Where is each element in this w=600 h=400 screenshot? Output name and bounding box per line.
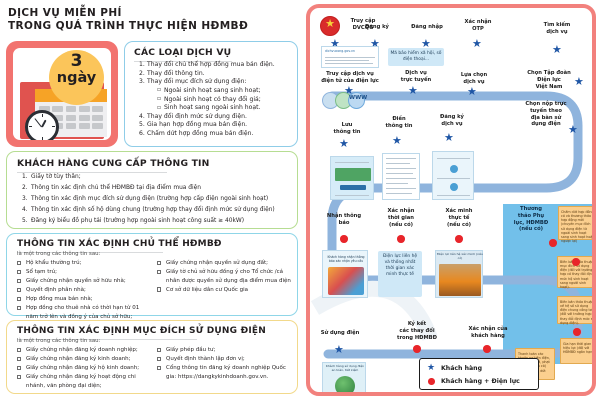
flow-label-s16: Xác minh thực tế (nếu có) — [435, 208, 483, 228]
legend-star-icon: ★ — [427, 363, 435, 373]
checkbox-item[interactable]: Giấy chứng nhận đăng ký hoạt động chi nh… — [17, 373, 151, 390]
checkbox-icon[interactable] — [17, 279, 21, 283]
customer-info-heading: KHÁCH HÀNG CUNG CẤP THÔNG TIN — [17, 158, 210, 169]
days-unit: ngày — [45, 70, 108, 86]
callout-dangky: Mã bảo hiểm xã hội, số điện thoại... — [388, 48, 444, 66]
dvcqg-url: dichvucong.gov.vn — [322, 47, 378, 53]
checkbox-item[interactable]: Quyết định phân nhà; — [17, 286, 151, 295]
flow-marker-star: ★ — [568, 124, 578, 135]
subject-info-subheading: là một trong các thông tin sau: — [17, 251, 100, 257]
list-item: 2.Thông tin xác định chủ thể HĐMBĐ tại đ… — [22, 183, 289, 194]
page-title: DỊCH VỤ MIỄN PHÍ TRONG QUÁ TRÌNH THỰC HI… — [8, 7, 278, 33]
title-line-2: TRONG QUÁ TRÌNH THỰC HIỆN HĐMBĐ — [8, 20, 278, 33]
flow-marker-star: ★ — [472, 38, 482, 49]
flow-label-s2: Đăng ký — [357, 24, 397, 31]
services-list: 1.Thay đổi chủ thể hợp đồng mua bán điện… — [139, 61, 292, 139]
legend-label-customer-utility: Khách hàng + Điện lực — [441, 378, 520, 385]
checkbox-icon[interactable] — [157, 348, 161, 352]
flow-marker-star: ★ — [552, 44, 562, 55]
nhan-thongbao-screenshot: Khách hàng nhận thông báo xác nhận yêu c… — [322, 250, 368, 298]
flow-marker-star: ★ — [444, 132, 454, 143]
purpose-info-panel: THÔNG TIN XÁC ĐỊNH MỤC ĐÍCH SỬ DỤNG ĐIỆN… — [6, 320, 298, 394]
sudung-dien-screenshot: Khách hàng sử dụng điện an toàn, tiết ki… — [322, 362, 366, 396]
flow-marker-star: ★ — [392, 135, 402, 146]
list-subitem: Ngoài sinh hoạt sang sinh hoạt; — [157, 87, 292, 96]
infographic-root: DỊCH VỤ MIỄN PHÍ TRONG QUÁ TRÌNH THỰC HI… — [0, 0, 600, 400]
checkbox-icon[interactable] — [17, 261, 21, 265]
flow-label-s12: Dịch vụ trực tuyến — [395, 70, 437, 84]
checkbox-icon[interactable] — [17, 306, 21, 310]
services-heading: CÁC LOẠI DỊCH VỤ — [134, 47, 231, 58]
checkbox-item[interactable]: Hợp đồng cho thuê nhà có thời hạn từ 01 … — [17, 304, 151, 321]
purpose-info-right-column: Giấy phép đầu tư; Quyết định thành lập đ… — [157, 346, 291, 391]
flow-marker-star: ★ — [574, 76, 584, 87]
callout-xacnhan-thoigian: Điện lực liên hệ và thống nhất thời gian… — [378, 251, 422, 297]
purpose-info-left-column: Giấy chứng nhận đăng ký doanh nghiệp; Gi… — [17, 346, 151, 391]
checkbox-item[interactable]: Giấy phép đầu tư; — [157, 346, 291, 355]
flow-label-s20: Sử dụng điện — [312, 330, 368, 337]
checkbox-icon[interactable] — [17, 348, 21, 352]
legend-label-customer: Khách hàng — [441, 365, 482, 372]
checkbox-item[interactable]: Hộ khẩu thường trú; — [17, 259, 151, 268]
flow-label-s15: Xác nhận thời gian (nếu có) — [377, 208, 425, 228]
checkbox-item[interactable]: Cổng thông tin đăng ký doanh nghiệp Quốc… — [157, 364, 291, 381]
flow-diagram: Truy cập DVCQG ★ Đăng ký ★ Đăng nhập ★ X… — [310, 8, 592, 392]
checkbox-icon[interactable] — [17, 357, 21, 361]
three-day-card: 3 ngày — [6, 41, 118, 147]
subject-info-heading: THÔNG TIN XÁC ĐỊNH CHỦ THỂ HĐMBĐ — [17, 239, 222, 249]
purpose-info-heading: THÔNG TIN XÁC ĐỊNH MỤC ĐÍCH SỬ DỤNG ĐIỆN — [17, 326, 266, 336]
legend-dot-icon — [428, 378, 435, 385]
note-thuongthao-1: Chấm dứt hợp đồng có và thương thảo hợp … — [558, 206, 596, 240]
flow-label-s11: Truy cập dịch vụ điện tử của điện lực — [314, 71, 386, 85]
flow-label-s8: Đăng ký dịch vụ — [430, 114, 474, 128]
checkbox-icon[interactable] — [17, 366, 21, 370]
callout-xacminh: Điện lực liên hệ xác minh (nếu có) — [437, 252, 483, 260]
customer-info-panel: KHÁCH HÀNG CUNG CẤP THÔNG TIN 1.Giấy tờ … — [6, 151, 298, 229]
checkbox-item[interactable]: Quyết định thành lập đơn vị; — [157, 355, 291, 364]
checkbox-icon[interactable] — [157, 357, 161, 361]
flow-marker-dot — [455, 235, 463, 243]
clock-icon — [25, 110, 59, 140]
luu-thongtin-screenshot — [330, 156, 374, 200]
title-line-1: DỊCH VỤ MIỄN PHÍ — [8, 7, 278, 20]
checkbox-item[interactable]: Sổ tạm trú; — [17, 268, 151, 277]
checkbox-item[interactable]: Giấy chứng nhận đăng ký kinh doanh; — [17, 355, 151, 364]
list-item: 1.Giấy tờ tùy thân; — [22, 172, 289, 183]
legend: ★ Khách hàng Khách hàng + Điện lực — [419, 358, 539, 390]
list-item: 3.Thay đổi mục đích sử dụng điện: Ngoài … — [139, 78, 292, 113]
list-item: 6.Chấm dứt hợp đồng mua bán điện. — [139, 130, 292, 139]
flow-label-s5: Tìm kiếm dịch vụ — [534, 22, 580, 36]
checkbox-item[interactable]: Giấy tờ chủ sở hữu đồng ý cho Tổ chức /c… — [157, 268, 291, 285]
purpose-info-subheading: là một trong các thông tin sau: — [17, 338, 100, 344]
checkbox-item[interactable]: Hợp đồng mua bán nhà; — [17, 295, 151, 304]
checkbox-item[interactable]: Cơ sở dữ liệu dân cư Quốc gia — [157, 286, 291, 295]
flow-marker-star: ★ — [339, 138, 349, 149]
list-item: 5.Đăng ký biểu đồ phụ tải (trường hợp ng… — [22, 216, 289, 227]
callout-nhan-thongbao: Khách hàng nhận thông báo xác nhận yêu c… — [324, 252, 368, 265]
checkbox-icon[interactable] — [157, 287, 161, 291]
subject-info-left-column: Hộ khẩu thường trú; Sổ tạm trú; Giấy chứ… — [17, 259, 151, 322]
checkbox-icon[interactable] — [17, 297, 21, 301]
checkbox-item[interactable]: Giấy chứng nhận đăng ký doanh nghiệp; — [17, 346, 151, 355]
checkbox-item[interactable]: Giấy chứng nhận quyền sử dụng đất; — [157, 259, 291, 268]
days-badge: 3 ngày — [49, 50, 104, 105]
flow-marker-dot — [483, 345, 491, 353]
customer-info-list: 1.Giấy tờ tùy thân; 2.Thông tin xác định… — [22, 172, 289, 227]
checkbox-icon[interactable] — [157, 366, 161, 370]
flow-label-s6: Chọn Tập đoàn Điện lực Việt Nam — [520, 70, 578, 90]
flow-label-s3: Đăng nhập — [406, 24, 448, 31]
national-emblem-icon — [320, 16, 340, 36]
calendar-clock-icon: 3 ngày — [13, 48, 111, 140]
dien-thongtin-screenshot — [382, 153, 420, 200]
checkbox-item[interactable]: Giấy chứng nhận đăng ký hộ kinh doanh; — [17, 364, 151, 373]
process-flow-panel: Truy cập DVCQG ★ Đăng ký ★ Đăng nhập ★ X… — [306, 4, 596, 396]
list-subitem: Sinh hoạt sang ngoài sinh hoạt. — [157, 104, 292, 113]
list-item: 1.Thay đổi chủ thể hợp đồng mua bán điện… — [139, 61, 292, 70]
list-item: 5.Gia hạn hợp đồng mua bán điện. — [139, 121, 292, 130]
flow-marker-dot — [549, 239, 557, 247]
flow-label-s9: Điền thông tin — [377, 116, 421, 130]
note-giahan: Gia hạn thời gian hiệu lực (đối với HĐMB… — [560, 338, 596, 364]
flow-marker-dot — [340, 235, 348, 243]
list-item: 2.Thay đổi thông tin. — [139, 70, 292, 79]
flow-marker-dot — [397, 235, 405, 243]
flow-marker-star: ★ — [467, 86, 477, 97]
flow-label-s7: Chọn nộp trực tuyến theo địa bàn sử dụng… — [518, 101, 574, 128]
dvcqg-screenshot: dichvucong.gov.vn — [321, 46, 379, 68]
checkbox-item[interactable]: Giấy chứng nhận quyền sở hữu nhà; — [17, 277, 151, 286]
note-thuongthao-3: Biên bản thỏa thuận về hệ số sử dụng điệ… — [557, 296, 596, 324]
list-item: 3.Thông tin xác định mục đích sử dụng đi… — [22, 194, 289, 205]
list-subitem: Ngoài sinh hoạt có thay đổi giá; — [157, 96, 292, 105]
flow-marker-star: ★ — [408, 85, 418, 96]
checkbox-icon[interactable] — [17, 270, 21, 274]
callout-sudung-dien: Khách hàng sử dụng điện an toàn, tiết ki… — [324, 364, 366, 372]
checkbox-icon[interactable] — [157, 270, 161, 274]
subject-info-panel: THÔNG TIN XÁC ĐỊNH CHỦ THỂ HĐMBĐ là một … — [6, 233, 298, 316]
flow-label-s4: Xác nhận OTP — [457, 19, 499, 33]
list-item: 4.Thông tin xác định số hộ dùng chung (t… — [22, 205, 289, 216]
flow-marker-dot — [573, 328, 581, 336]
flow-label-s17: Thương thảo Phụ lục, HĐMBĐ (nếu có) — [506, 206, 556, 233]
flow-label-s10: Lưu thông tin — [325, 122, 369, 136]
flow-label-s19: Ký kết các thay đổi trong HĐMBĐ — [390, 321, 444, 341]
checkbox-icon[interactable] — [17, 288, 21, 292]
flow-label-s13: Lựa chọn dịch vụ — [453, 72, 495, 86]
xacminh-thucte-photo: Điện lực liên hệ xác minh (nếu có) — [435, 250, 483, 298]
flow-marker-dot — [572, 258, 580, 266]
subject-info-right-column: Giấy chứng nhận quyền sử dụng đất; Giấy … — [157, 259, 291, 322]
days-number: 3 — [49, 51, 104, 71]
flow-label-s18: Xác nhận của khách hàng — [460, 326, 516, 340]
checkbox-icon[interactable] — [17, 375, 21, 379]
dangky-dichvu-screenshot — [432, 151, 474, 200]
services-panel: CÁC LOẠI DỊCH VỤ 1.Thay đổi chủ thể hợp … — [124, 41, 298, 147]
flow-marker-dot — [413, 345, 421, 353]
flow-marker-star: ★ — [334, 344, 344, 355]
left-column: DỊCH VỤ MIỄN PHÍ TRONG QUÁ TRÌNH THỰC HI… — [0, 0, 304, 400]
checkbox-icon[interactable] — [157, 261, 161, 265]
flow-label-s14: Nhận thông báo — [320, 213, 368, 227]
